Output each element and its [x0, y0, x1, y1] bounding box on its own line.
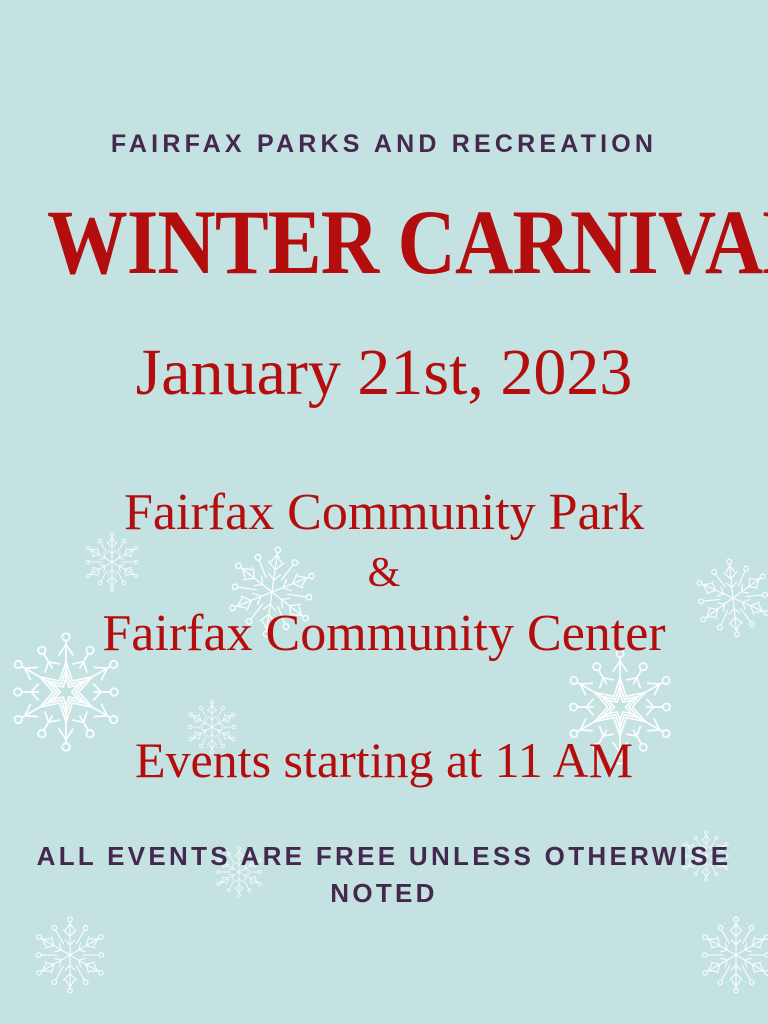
event-start-time: Events starting at 11 AM [0, 735, 768, 785]
venue-primary: Fairfax Community Park [0, 487, 768, 539]
page-title: WINTER CARNIVAL [47, 196, 721, 288]
venue-secondary: Fairfax Community Center [0, 608, 768, 660]
pricing-disclaimer: ALL EVENTS ARE FREE UNLESS OTHERWISE NOT… [0, 838, 768, 912]
event-date: January 21st, 2023 [0, 340, 768, 406]
poster-text-layer: FAIRFAX PARKS AND RECREATION WINTER CARN… [0, 0, 768, 1024]
organization-name: FAIRFAX PARKS AND RECREATION [0, 130, 768, 159]
winter-carnival-poster: FAIRFAX PARKS AND RECREATION WINTER CARN… [0, 0, 768, 1024]
venue-conjunction: & [0, 552, 768, 594]
